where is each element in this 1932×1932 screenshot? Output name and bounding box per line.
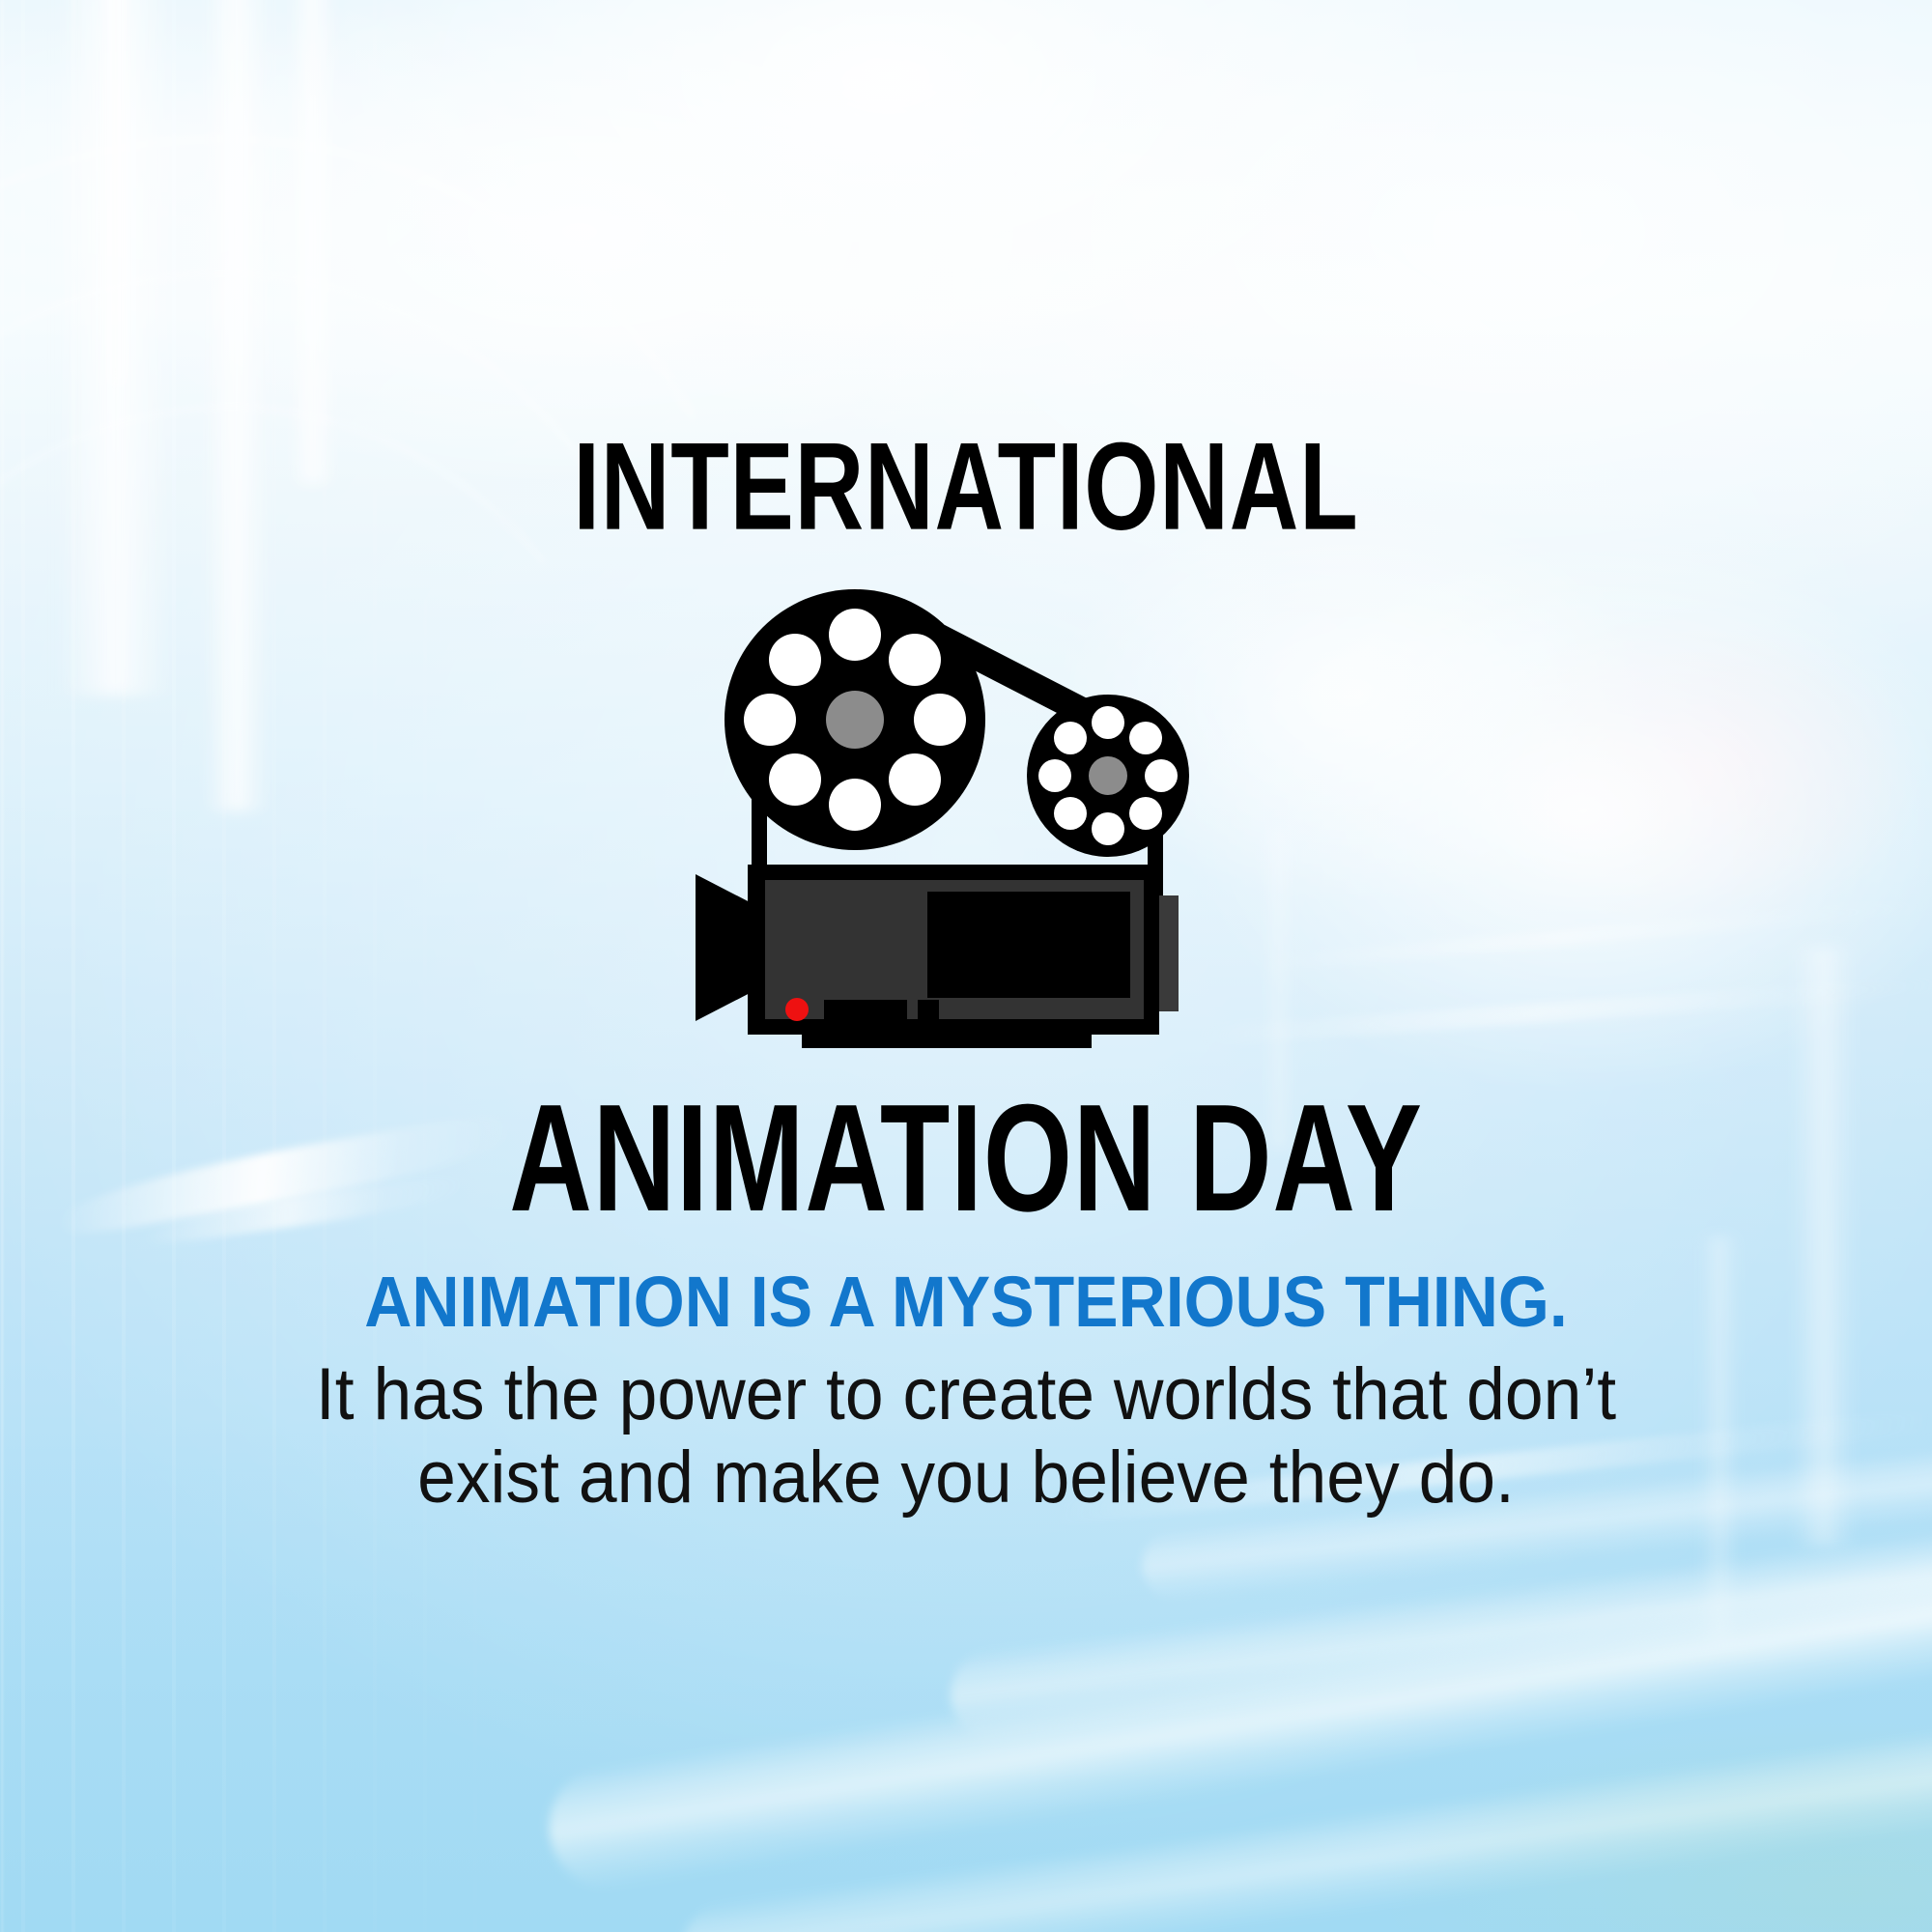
subtitle-body: It has the power to create worlds that d…: [58, 1353, 1874, 1520]
poster-canvas: INTERNATIONAL: [0, 0, 1932, 1932]
film-reel-large: [724, 589, 985, 850]
projector-lens: [696, 874, 755, 1021]
subtitle-block: ANIMATION IS A MYSTERIOUS THING. It has …: [0, 1265, 1932, 1520]
subtitle-heading: ANIMATION IS A MYSTERIOUS THING.: [77, 1265, 1855, 1338]
poster-content: INTERNATIONAL: [0, 0, 1932, 1932]
subtitle-body-line-1: It has the power to create worlds that d…: [58, 1353, 1874, 1436]
page-title-bottom: ANIMATION DAY: [213, 1089, 1719, 1229]
page-title-top: INTERNATIONAL: [193, 430, 1739, 545]
projector-indicator-light: [785, 998, 809, 1021]
subtitle-body-line-2: exist and make you believe they do.: [58, 1436, 1874, 1520]
film-projector-icon: [686, 584, 1246, 1048]
film-reel-small: [1027, 695, 1189, 857]
